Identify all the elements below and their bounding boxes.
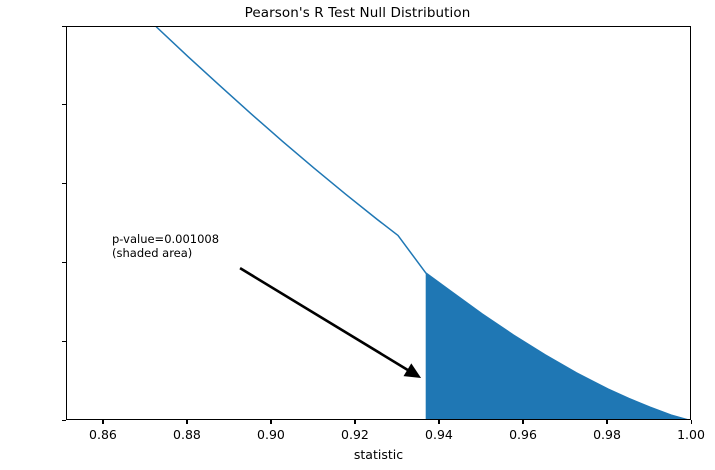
x-tick-label: 0.86 [89, 427, 117, 442]
y-tick-mark [62, 262, 66, 263]
x-tick-label: 0.94 [425, 427, 453, 442]
x-tick-label: 0.88 [173, 427, 201, 442]
annotation-arrow-shaft [240, 268, 411, 372]
y-tick-mark [62, 26, 66, 27]
x-tick-mark [522, 420, 523, 424]
x-tick-mark [354, 420, 355, 424]
y-tick-mark [62, 104, 66, 105]
x-axis-label: statistic [66, 447, 691, 462]
matplotlib-figure: Pearson's R Test Null Distribution 0.860… [0, 0, 715, 470]
annotation-arrow-head [404, 363, 422, 378]
x-tick-label: 0.92 [341, 427, 369, 442]
annotation-text-pvalue: p-value=0.001008 [112, 232, 219, 246]
x-tick-label: 0.90 [257, 427, 285, 442]
plot-canvas [67, 27, 691, 420]
y-tick-mark [62, 341, 66, 342]
shaded-area-pvalue [426, 273, 691, 420]
x-tick-mark [186, 420, 187, 424]
annotation-text-shaded: (shaded area) [112, 246, 192, 260]
x-tick-mark [606, 420, 607, 424]
x-tick-label: 0.96 [509, 427, 537, 442]
density-curve [156, 27, 691, 420]
plot-axes [66, 26, 691, 420]
y-tick-mark [62, 183, 66, 184]
x-tick-label: 1.00 [677, 427, 705, 442]
x-tick-mark [270, 420, 271, 424]
x-tick-mark [691, 420, 692, 424]
x-tick-mark [102, 420, 103, 424]
page-title: Pearson's R Test Null Distribution [0, 5, 715, 21]
x-tick-mark [438, 420, 439, 424]
y-tick-mark [62, 420, 66, 421]
x-tick-label: 0.98 [593, 427, 621, 442]
